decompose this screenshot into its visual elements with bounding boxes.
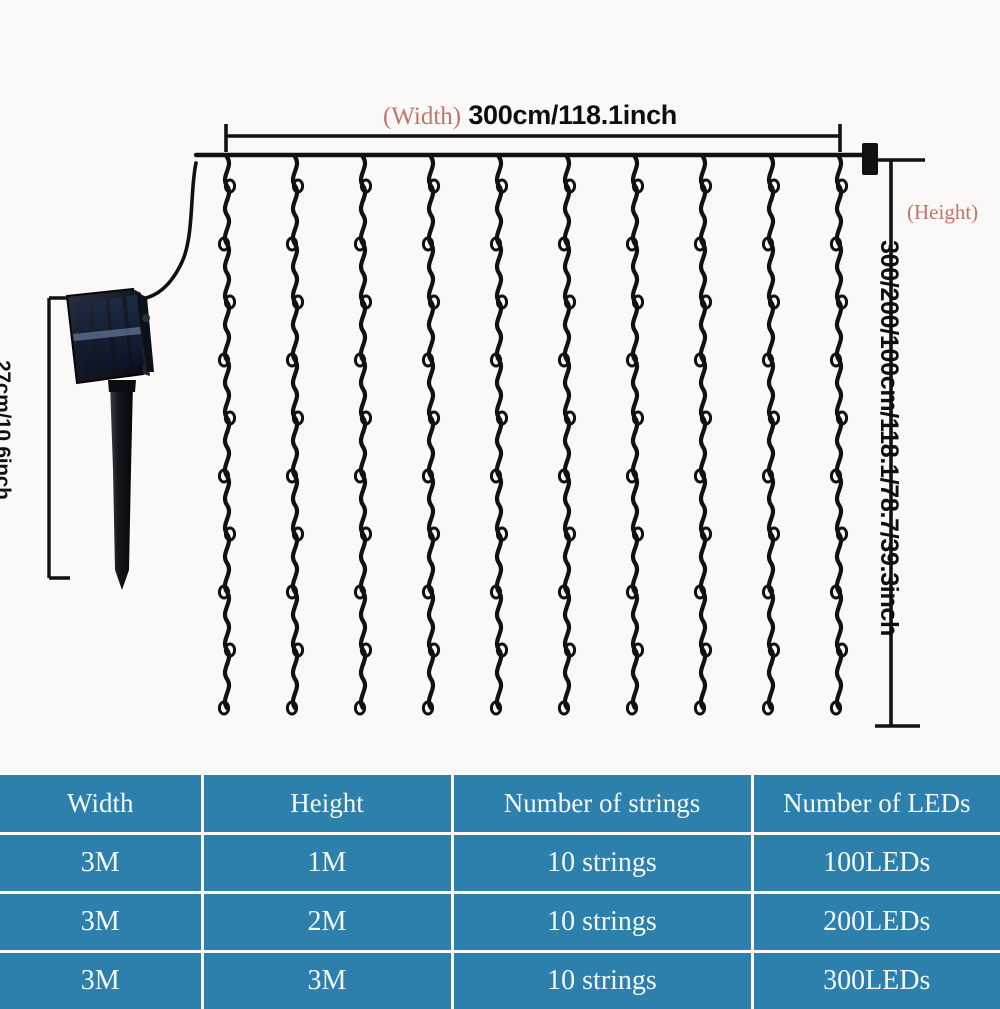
column-header-width: Width <box>0 775 202 834</box>
panel-size-bracket <box>49 298 70 578</box>
cell-height: 3M <box>202 952 452 1009</box>
dimension-diagram: (Width) 300cm/118.1inch (Height) 300/200… <box>0 0 1000 775</box>
table-row: 3M 1M 10 strings 100LEDs <box>0 834 1000 893</box>
led-string <box>491 157 506 714</box>
width-dimension-value: 300cm/118.1inch <box>468 100 677 130</box>
cell-width: 3M <box>0 834 202 893</box>
led-string <box>559 157 574 714</box>
table-row: 3M 2M 10 strings 200LEDs <box>0 893 1000 952</box>
lead-wire <box>131 163 196 300</box>
cell-width: 3M <box>0 952 202 1009</box>
spec-table: Width Height Number of strings Number of… <box>0 775 1000 1009</box>
product-dimension-page: Product dimension display diagram <box>0 0 1000 1000</box>
led-string <box>423 157 438 714</box>
table-header-row: Width Height Number of strings Number of… <box>0 775 1000 834</box>
cell-strings: 10 strings <box>452 834 752 893</box>
height-value-wrap: 300/200/100cm/118.1/78.7/39.3inch <box>874 240 903 636</box>
led-string <box>695 157 710 714</box>
led-string <box>355 157 370 714</box>
column-header-strings: Number of strings <box>452 775 752 834</box>
column-header-height: Height <box>202 775 452 834</box>
cell-height: 1M <box>202 834 452 893</box>
led-string-group <box>219 157 846 714</box>
led-string <box>831 157 846 714</box>
cell-height: 2M <box>202 893 452 952</box>
cell-leds: 100LEDs <box>752 834 1000 893</box>
led-string <box>287 157 302 714</box>
height-paren-wrap: (Height) <box>907 200 978 225</box>
width-paren-label: (Width) <box>383 103 461 130</box>
table-row: 3M 3M 10 strings 300LEDs <box>0 952 1000 1009</box>
height-paren-label: (Height) <box>907 200 978 224</box>
cell-leds: 200LEDs <box>752 893 1000 952</box>
end-plug-icon <box>862 143 878 175</box>
cell-leds: 300LEDs <box>752 952 1000 1009</box>
led-string <box>763 157 778 714</box>
column-header-leds: Number of LEDs <box>752 775 1000 834</box>
width-dimension-label: (Width) 300cm/118.1inch <box>0 100 1000 131</box>
led-string <box>219 157 234 714</box>
cell-strings: 10 strings <box>452 893 752 952</box>
cell-strings: 10 strings <box>452 952 752 1009</box>
panel-size-wrap: 27cm/10.6inch <box>0 360 14 500</box>
led-string <box>627 157 642 714</box>
height-dimension-value: 300/200/100cm/118.1/78.7/39.3inch <box>875 240 903 636</box>
panel-size-label: 27cm/10.6inch <box>0 360 14 500</box>
solar-panel-stake-icon <box>67 289 154 590</box>
cell-width: 3M <box>0 893 202 952</box>
